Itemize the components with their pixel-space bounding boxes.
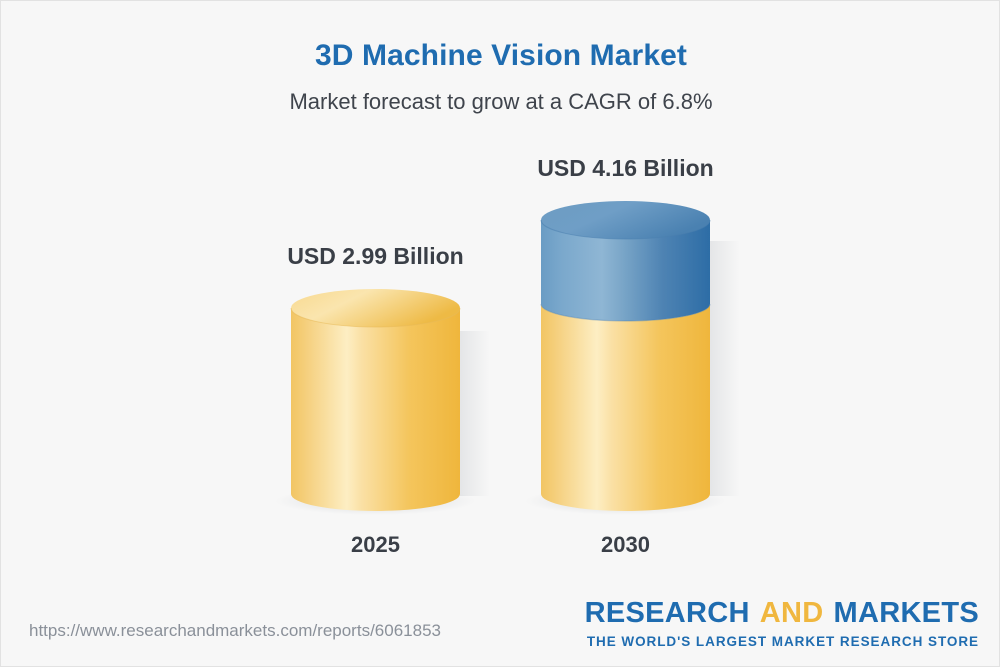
brand-tagline: THE WORLD'S LARGEST MARKET RESEARCH STOR… xyxy=(585,635,979,649)
brand-name-and: AND xyxy=(760,597,824,629)
source-url[interactable]: https://www.researchandmarkets.com/repor… xyxy=(29,621,441,641)
infographic-canvas: 3D Machine Vision Market Market forecast… xyxy=(0,0,1000,667)
bar-2025-side-shadow xyxy=(460,331,490,496)
brand-name: RESEARCHANDMARKETS xyxy=(585,599,979,628)
bar-2030-segment-base xyxy=(541,304,710,511)
brand-name-last: MARKETS xyxy=(834,597,980,629)
bar-value-label-2025: USD 2.99 Billion xyxy=(275,243,476,270)
brand-name-first: RESEARCH xyxy=(585,597,750,629)
bar-2025-body xyxy=(291,308,460,511)
bar-2025 xyxy=(276,289,491,515)
bar-2030-side-shadow xyxy=(710,241,740,496)
bar-2030 xyxy=(526,201,741,515)
cylinder-bar-chart xyxy=(1,1,1000,667)
bar-category-label-2030: 2030 xyxy=(545,532,706,558)
brand-logo: RESEARCHANDMARKETS THE WORLD'S LARGEST M… xyxy=(585,599,979,649)
bar-value-label-2030: USD 4.16 Billion xyxy=(525,155,726,182)
bar-category-label-2025: 2025 xyxy=(295,532,456,558)
